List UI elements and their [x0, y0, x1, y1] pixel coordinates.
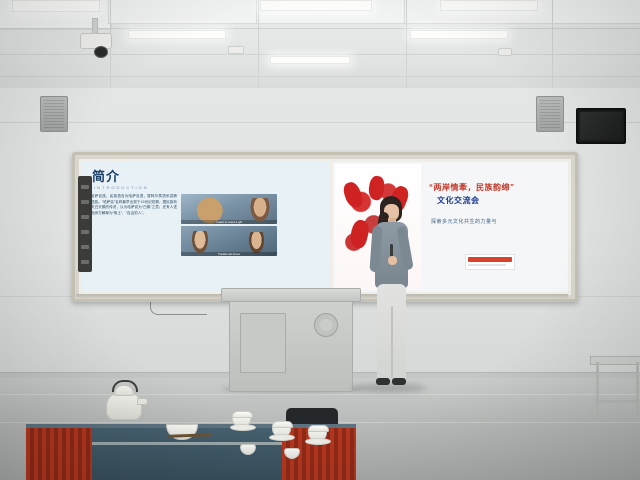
slide-right-card-button — [468, 257, 512, 262]
wall-speaker-right — [536, 96, 564, 132]
screenshot-scene: 简介 INTRODUCTION 哈萨克族、民族语言为哈萨克语，属阿尔泰语系突厥语… — [0, 0, 640, 480]
lectern-top-surface — [221, 288, 361, 302]
ceiling-light — [12, 0, 100, 12]
slide-left-paragraph: 哈萨克族、民族语言为哈萨克语，属阿尔泰语系突厥语族。“哈萨克”名称最早出现于15… — [88, 194, 177, 256]
ceiling-light — [270, 56, 350, 64]
camera-lens-icon — [94, 46, 108, 58]
ceiling-panel — [552, 0, 640, 24]
floor-line — [0, 394, 640, 395]
slide-left-photos: I want to meet a girl Traditional dress — [181, 194, 277, 256]
ceiling-grid-line — [0, 76, 640, 77]
side-desk-leg — [636, 362, 639, 420]
wall-speaker-left — [40, 96, 68, 132]
ceiling-sensor — [498, 48, 512, 56]
lectern[interactable] — [229, 296, 353, 392]
ceiling-light — [410, 30, 508, 39]
whiteboard-button[interactable] — [81, 245, 89, 249]
teapot — [104, 380, 144, 420]
ceiling-grid-line — [258, 0, 259, 88]
whiteboard-screen-area: 简介 INTRODUCTION 哈萨克族、民族语言为哈萨克语，属阿尔泰语系突厥语… — [79, 159, 571, 295]
ceiling-light — [128, 30, 226, 39]
ceiling-grid-line — [552, 0, 553, 88]
presenter-hands — [388, 256, 397, 265]
slide-right-headline-2: 文化交流会 — [437, 195, 562, 206]
ceiling-light — [260, 0, 372, 11]
side-desk-leg — [596, 362, 599, 420]
tea-saucer — [305, 438, 331, 445]
whiteboard-button[interactable] — [81, 215, 89, 219]
ceiling-panel — [108, 0, 260, 24]
ceiling-sensor — [228, 46, 244, 54]
slide-left-title: 简介 — [92, 170, 323, 183]
lectern-emblem — [314, 313, 338, 337]
presenter-right-shoe — [392, 378, 406, 385]
slide-photo-1: I want to meet a girl — [181, 194, 277, 224]
table-runner-left — [26, 428, 92, 480]
slide-photo-1-caption: I want to meet a girl — [181, 220, 277, 224]
whiteboard-side-buttons[interactable] — [78, 176, 92, 272]
tea-cup-lid — [308, 425, 329, 432]
tea-saucer — [269, 434, 295, 441]
tea-cup-lid — [272, 421, 293, 428]
wall-monitor-screen — [580, 112, 622, 140]
ceiling-light — [440, 0, 538, 11]
slide-photo-2: Traditional dress — [181, 226, 277, 256]
lectern-control-panel[interactable] — [240, 313, 286, 373]
whiteboard-button[interactable] — [81, 185, 89, 189]
whiteboard-button[interactable] — [81, 230, 89, 234]
slide-left-body: 哈萨克族、民族语言为哈萨克语，属阿尔泰语系突厥语族。“哈萨克”名称最早出现于15… — [88, 194, 323, 256]
presenter-leg-split — [391, 306, 393, 378]
interactive-whiteboard[interactable]: 简介 INTRODUCTION 哈萨克族、民族语言为哈萨克语，属阿尔泰语系突厥语… — [72, 152, 578, 302]
teapot-spout — [137, 398, 148, 405]
presenter-left-shoe — [376, 378, 390, 385]
tea-saucer — [230, 424, 256, 431]
slide-photo-2-caption: Traditional dress — [181, 252, 277, 256]
ceiling-grid-line — [406, 0, 407, 88]
wall-monitor — [576, 108, 626, 144]
slide-right-card-line — [468, 264, 506, 266]
slide-right-card — [465, 254, 515, 270]
tea-cup-lid — [232, 411, 253, 418]
teapot-body — [106, 392, 142, 420]
slide-left-subtitle: INTRODUCTION — [94, 185, 323, 190]
whiteboard-button[interactable] — [81, 200, 89, 204]
slide-right-subline: 探索多元文化共生的力量与 — [431, 218, 564, 225]
presenter — [360, 196, 422, 396]
whiteboard-button[interactable] — [81, 260, 89, 264]
slide-left[interactable]: 简介 INTRODUCTION 哈萨克族、民族语言为哈萨克语，属阿尔泰语系突厥语… — [82, 162, 329, 292]
teapot-handle — [112, 380, 138, 392]
side-desk-crossbar — [596, 400, 640, 403]
slide-right-headline-1: “两岸情牽，民族韵绵” — [429, 182, 562, 193]
